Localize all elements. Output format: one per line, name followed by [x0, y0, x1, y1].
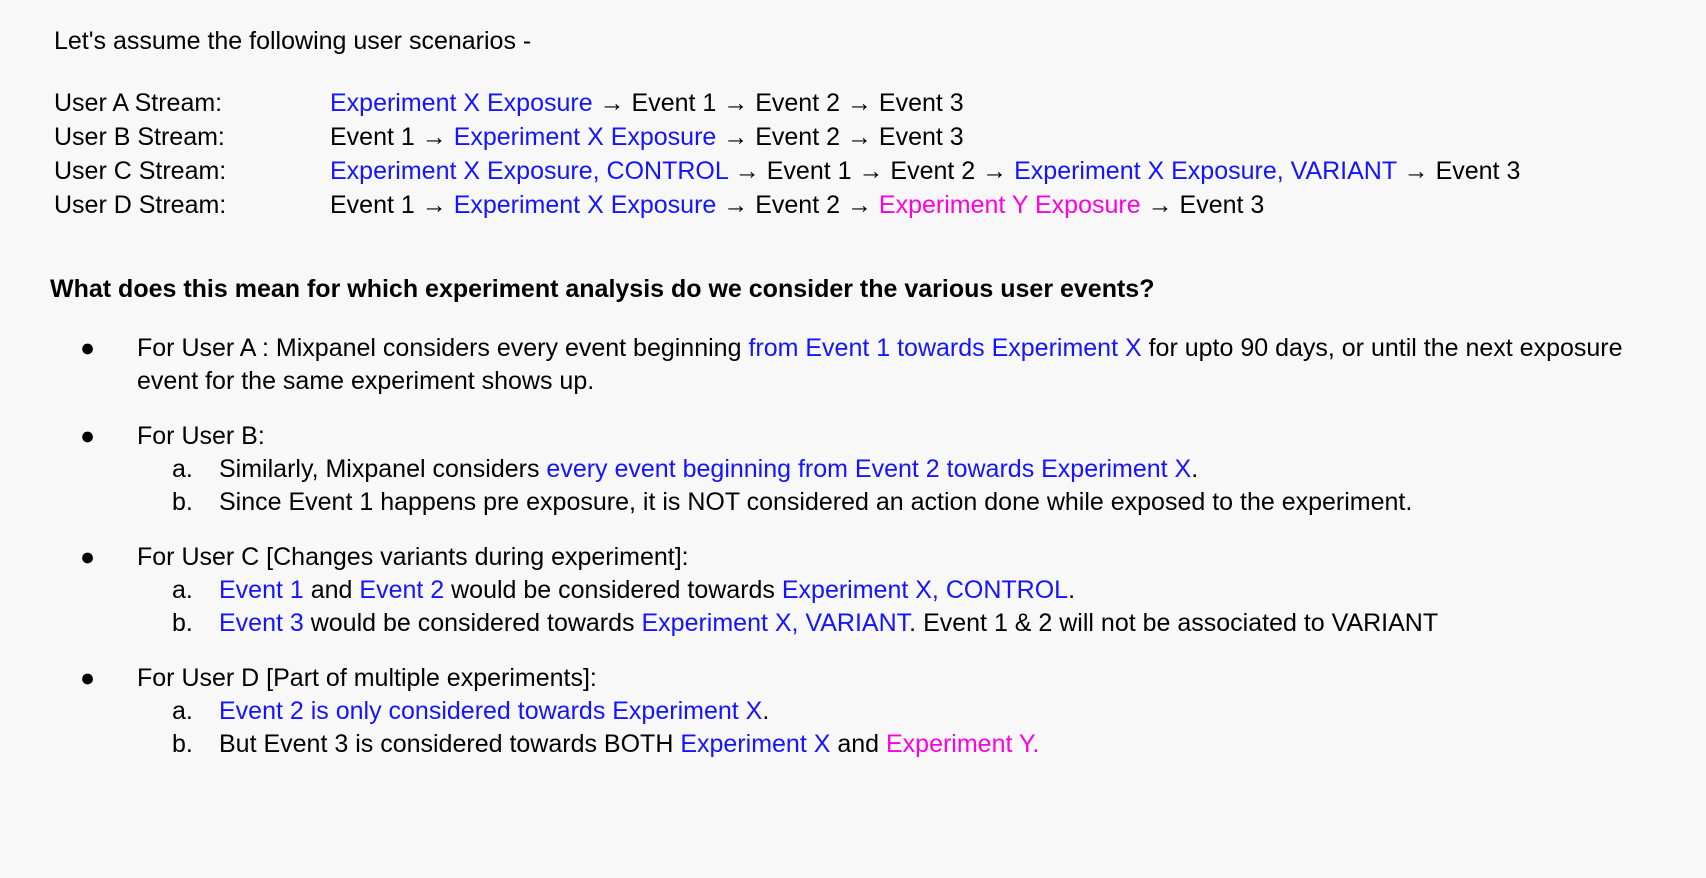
stream-segment: → — [415, 123, 454, 151]
stream-segment: Event 3 — [879, 89, 964, 117]
stream-segment: Event 1 — [767, 157, 852, 185]
bullet-block: ●For User C [Changes variants during exp… — [54, 541, 1686, 640]
bullet-text: For User B: — [137, 422, 265, 450]
stream-segment: Experiment X Exposure — [454, 123, 717, 151]
user-stream-row: User D Stream:Event 1 → Experiment X Exp… — [54, 188, 1520, 222]
stream-segment: → — [716, 89, 755, 117]
sub-bullet-list: a.Event 1 and Event 2 would be considere… — [54, 574, 1686, 640]
stream-segment: → — [840, 123, 879, 151]
sub-bullet-item: b.Event 3 would be considered towards Ex… — [54, 607, 1686, 640]
sub-bullet-marker: a. — [172, 695, 193, 728]
user-stream-row: User C Stream:Experiment X Exposure, CON… — [54, 154, 1520, 188]
sub-bullet-text: Since Event 1 happens pre exposure, it i… — [219, 488, 1412, 516]
sub-bullet-item: b.But Event 3 is considered towards BOTH… — [54, 728, 1686, 761]
bullet-segment: from Event 1 towards Experiment X — [748, 334, 1141, 362]
sub-bullet-text: Event 2 is only considered towards Exper… — [219, 697, 769, 725]
sub-bullet-segment: Event 1 — [219, 576, 304, 604]
bullet-item: ●For User C [Changes variants during exp… — [54, 541, 1686, 574]
sub-bullet-segment: . — [762, 697, 769, 725]
sub-bullet-segment: and — [304, 576, 360, 604]
stream-segment: → — [415, 191, 454, 219]
section-heading: What does this mean for which experiment… — [50, 272, 1154, 306]
sub-bullet-segment: every event beginning from Event 2 towar… — [546, 455, 1191, 483]
bullet-dot-icon: ● — [80, 420, 95, 453]
bullet-block: ●For User D [Part of multiple experiment… — [54, 662, 1686, 761]
sub-bullet-segment: would be considered towards — [444, 576, 782, 604]
bullet-item: ●For User D [Part of multiple experiment… — [54, 662, 1686, 695]
stream-segment: Experiment X Exposure — [454, 191, 717, 219]
stream-segment: → — [840, 89, 879, 117]
user-stream-flow: Event 1 → Experiment X Exposure → Event … — [330, 188, 1264, 222]
sub-bullet-segment: Event 2 is only considered towards Exper… — [219, 697, 762, 725]
sub-bullet-segment: Experiment X, VARIANT — [641, 609, 909, 637]
sub-bullet-segment: But Event 3 is considered towards BOTH — [219, 730, 680, 758]
stream-segment: → — [1397, 157, 1436, 185]
explanation-bullet-list: ●For User A : Mixpanel considers every e… — [54, 332, 1686, 761]
stream-segment: Experiment X Exposure, VARIANT — [1014, 157, 1397, 185]
stream-segment: Experiment X Exposure, CONTROL — [330, 157, 728, 185]
user-stream-row: User A Stream:Experiment X Exposure → Ev… — [54, 86, 1520, 120]
user-stream-label: User D Stream: — [54, 188, 330, 222]
stream-segment: → — [593, 89, 632, 117]
bullet-block: ●For User A : Mixpanel considers every e… — [54, 332, 1686, 398]
sub-bullet-item: a.Event 1 and Event 2 would be considere… — [54, 574, 1686, 607]
stream-segment: → — [840, 191, 879, 219]
stream-segment: Event 1 — [330, 191, 415, 219]
sub-bullet-marker: a. — [172, 574, 193, 607]
sub-bullet-segment: Experiment X, CONTROL — [782, 576, 1068, 604]
sub-bullet-text: Event 3 would be considered towards Expe… — [219, 609, 1438, 637]
user-stream-flow: Experiment X Exposure → Event 1 → Event … — [330, 86, 964, 120]
bullet-dot-icon: ● — [80, 332, 95, 365]
sub-bullet-segment: Experiment Y. — [886, 730, 1039, 758]
bullet-item: ●For User B: — [54, 420, 1686, 453]
sub-bullet-segment: Event 3 — [219, 609, 304, 637]
sub-bullet-text: Similarly, Mixpanel considers every even… — [219, 455, 1198, 483]
stream-segment: Experiment Y Exposure — [879, 191, 1141, 219]
sub-bullet-marker: a. — [172, 453, 193, 486]
sub-bullet-list: a.Event 2 is only considered towards Exp… — [54, 695, 1686, 761]
user-stream-list: User A Stream:Experiment X Exposure → Ev… — [54, 86, 1520, 222]
sub-bullet-marker: b. — [172, 486, 193, 519]
sub-bullet-segment: . — [1068, 576, 1075, 604]
stream-segment: Event 2 — [755, 89, 840, 117]
user-stream-flow: Experiment X Exposure, CONTROL → Event 1… — [330, 154, 1520, 188]
sub-bullet-segment: Similarly, Mixpanel considers — [219, 455, 546, 483]
stream-segment: Event 3 — [879, 123, 964, 151]
document-page: Let's assume the following user scenario… — [0, 0, 1706, 878]
sub-bullet-segment: . — [1191, 455, 1198, 483]
stream-segment: Experiment X Exposure — [330, 89, 593, 117]
sub-bullet-item: a.Similarly, Mixpanel considers every ev… — [54, 453, 1686, 486]
stream-segment: → — [728, 157, 767, 185]
stream-segment: → — [852, 157, 891, 185]
bullet-segment: For User B: — [137, 422, 265, 450]
bullet-segment: For User A : Mixpanel considers every ev… — [137, 334, 748, 362]
user-stream-label: User C Stream: — [54, 154, 330, 188]
bullet-dot-icon: ● — [80, 541, 95, 574]
sub-bullet-segment: and — [830, 730, 886, 758]
stream-segment: → — [975, 157, 1014, 185]
sub-bullet-text: But Event 3 is considered towards BOTH E… — [219, 730, 1039, 758]
bullet-text: For User D [Part of multiple experiments… — [137, 664, 597, 692]
stream-segment: Event 2 — [890, 157, 975, 185]
sub-bullet-item: a.Event 2 is only considered towards Exp… — [54, 695, 1686, 728]
bullet-segment: For User C [Changes variants during expe… — [137, 543, 689, 571]
stream-segment: Event 3 — [1436, 157, 1521, 185]
user-stream-label: User B Stream: — [54, 120, 330, 154]
bullet-text: For User C [Changes variants during expe… — [137, 543, 689, 571]
intro-paragraph: Let's assume the following user scenario… — [54, 24, 531, 58]
bullet-block: ●For User B:a.Similarly, Mixpanel consid… — [54, 420, 1686, 519]
sub-bullet-text: Event 1 and Event 2 would be considered … — [219, 576, 1075, 604]
user-stream-flow: Event 1 → Experiment X Exposure → Event … — [330, 120, 964, 154]
sub-bullet-segment: Since Event 1 happens pre exposure, it i… — [219, 488, 1412, 516]
stream-segment: → — [1141, 191, 1180, 219]
bullet-item: ●For User A : Mixpanel considers every e… — [54, 332, 1686, 398]
user-stream-label: User A Stream: — [54, 86, 330, 120]
sub-bullet-marker: b. — [172, 607, 193, 640]
sub-bullet-segment: . Event 1 & 2 will not be associated to … — [909, 609, 1438, 637]
stream-segment: Event 1 — [632, 89, 717, 117]
sub-bullet-list: a.Similarly, Mixpanel considers every ev… — [54, 453, 1686, 519]
sub-bullet-segment: would be considered towards — [304, 609, 642, 637]
stream-segment: → — [716, 123, 755, 151]
stream-segment: → — [716, 191, 755, 219]
sub-bullet-segment: Event 2 — [359, 576, 444, 604]
sub-bullet-item: b.Since Event 1 happens pre exposure, it… — [54, 486, 1686, 519]
bullet-segment: For User D [Part of multiple experiments… — [137, 664, 597, 692]
stream-segment: Event 2 — [755, 123, 840, 151]
sub-bullet-segment: Experiment X — [680, 730, 830, 758]
stream-segment: Event 2 — [755, 191, 840, 219]
sub-bullet-marker: b. — [172, 728, 193, 761]
stream-segment: Event 3 — [1180, 191, 1265, 219]
bullet-text: For User A : Mixpanel considers every ev… — [137, 334, 1623, 395]
bullet-dot-icon: ● — [80, 662, 95, 695]
stream-segment: Event 1 — [330, 123, 415, 151]
user-stream-row: User B Stream:Event 1 → Experiment X Exp… — [54, 120, 1520, 154]
